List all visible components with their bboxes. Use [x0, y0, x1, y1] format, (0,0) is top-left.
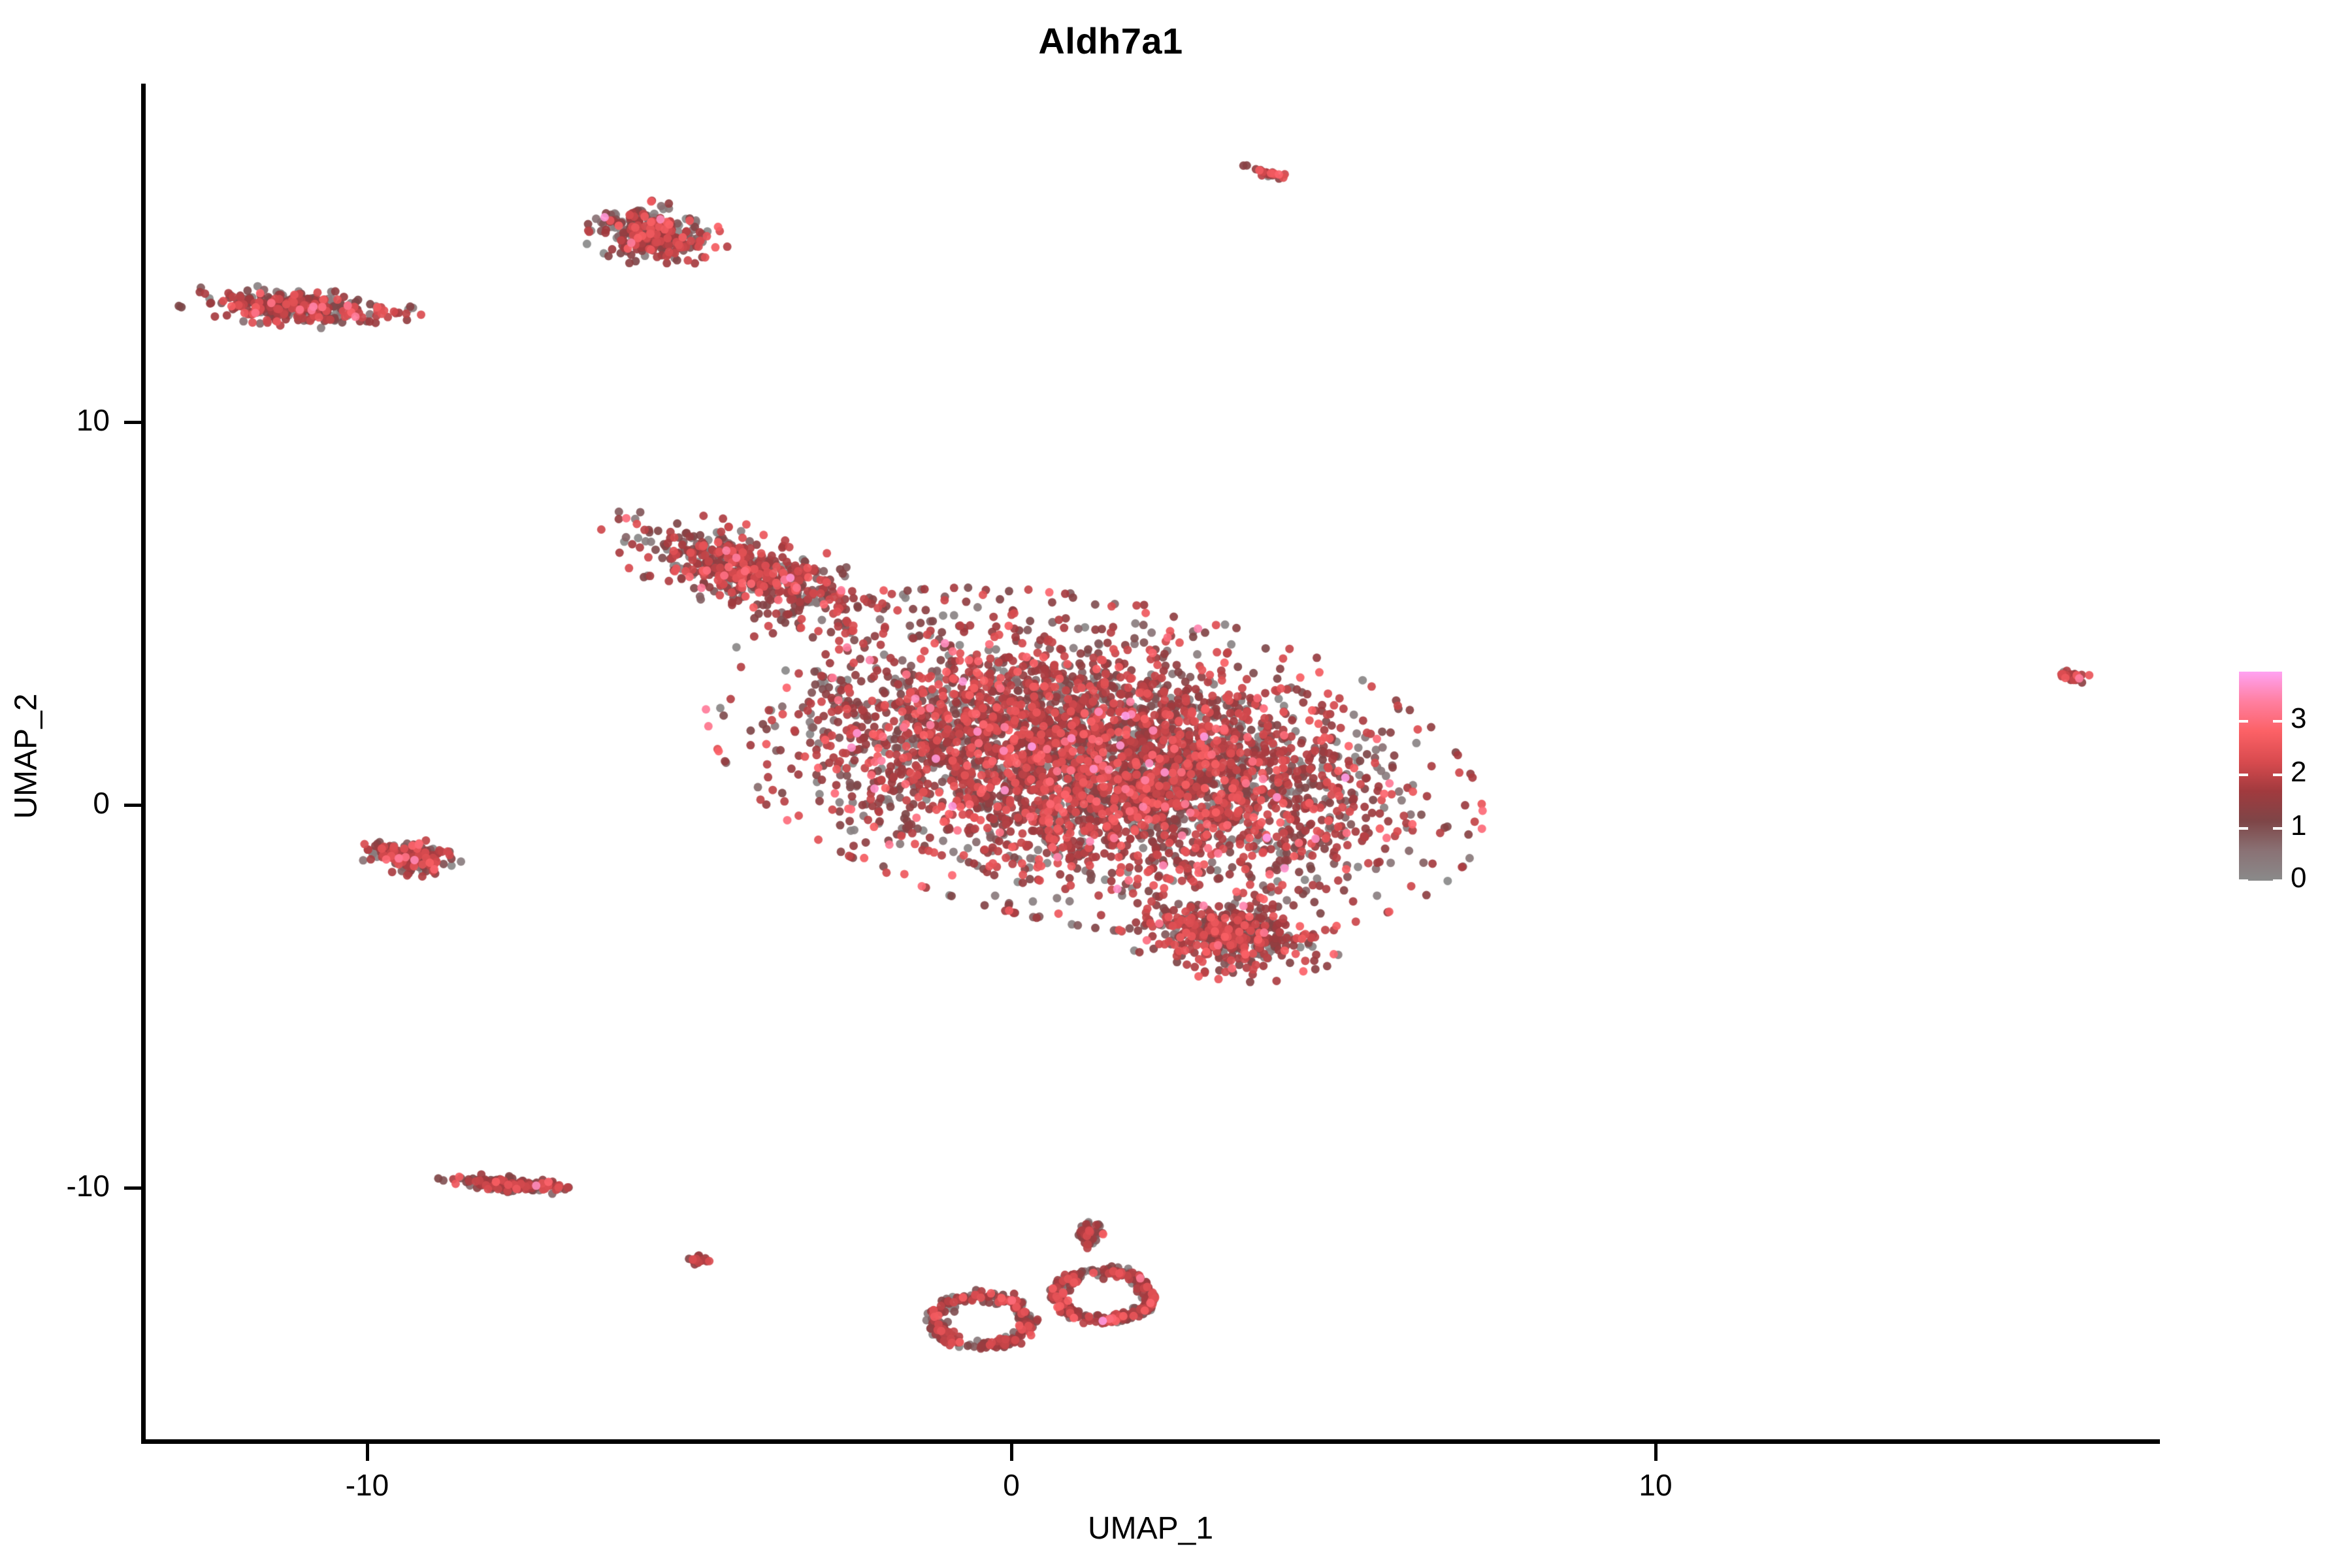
x-axis-tick-label: 0 [926, 1467, 1096, 1503]
y-axis-tick-label: -10 [0, 1168, 110, 1203]
colorbar-tick-label: 3 [2291, 704, 2336, 733]
colorbar-tick-mark [2239, 827, 2248, 830]
x-axis-tick-mark [1654, 1444, 1658, 1461]
x-axis-tick-mark [366, 1444, 369, 1461]
y-axis-line [141, 84, 146, 1444]
colorbar-tick-label: 1 [2291, 811, 2336, 840]
y-axis-title: UMAP_2 [8, 547, 44, 966]
y-axis-tick-mark [124, 421, 141, 424]
colorbar-tick-mark [2273, 774, 2282, 776]
x-axis-tick-label: -10 [282, 1467, 452, 1503]
x-axis-tick-mark [1010, 1444, 1013, 1461]
colorbar-tick-mark [2239, 774, 2248, 776]
colorbar-tick-mark [2239, 720, 2248, 723]
colorbar-gradient [2239, 672, 2282, 881]
colorbar-legend: 3 2 1 0 [2234, 666, 2345, 889]
x-axis-line [141, 1439, 2160, 1444]
y-axis-tick-label: 10 [0, 402, 110, 438]
x-axis-tick-label: 10 [1571, 1467, 1740, 1503]
feature-plot-figure: Aldh7a1 -10 0 10 10 0 -10 UMAP_1 UMAP_2 … [0, 0, 2352, 1568]
scatter-points-canvas [144, 85, 2163, 1441]
colorbar-tick-label: 0 [2291, 864, 2336, 892]
y-axis-tick-mark [124, 804, 141, 807]
colorbar-tick-mark [2273, 879, 2282, 882]
x-axis-title: UMAP_1 [141, 1511, 2160, 1546]
colorbar-tick-mark [2239, 879, 2248, 882]
colorbar-tick-mark [2273, 827, 2282, 830]
page-title: Aldh7a1 [0, 20, 2221, 62]
colorbar-tick-label: 2 [2291, 758, 2336, 787]
colorbar-tick-mark [2273, 720, 2282, 723]
scatter-plot-panel [144, 85, 2163, 1441]
y-axis-tick-mark [124, 1186, 141, 1190]
